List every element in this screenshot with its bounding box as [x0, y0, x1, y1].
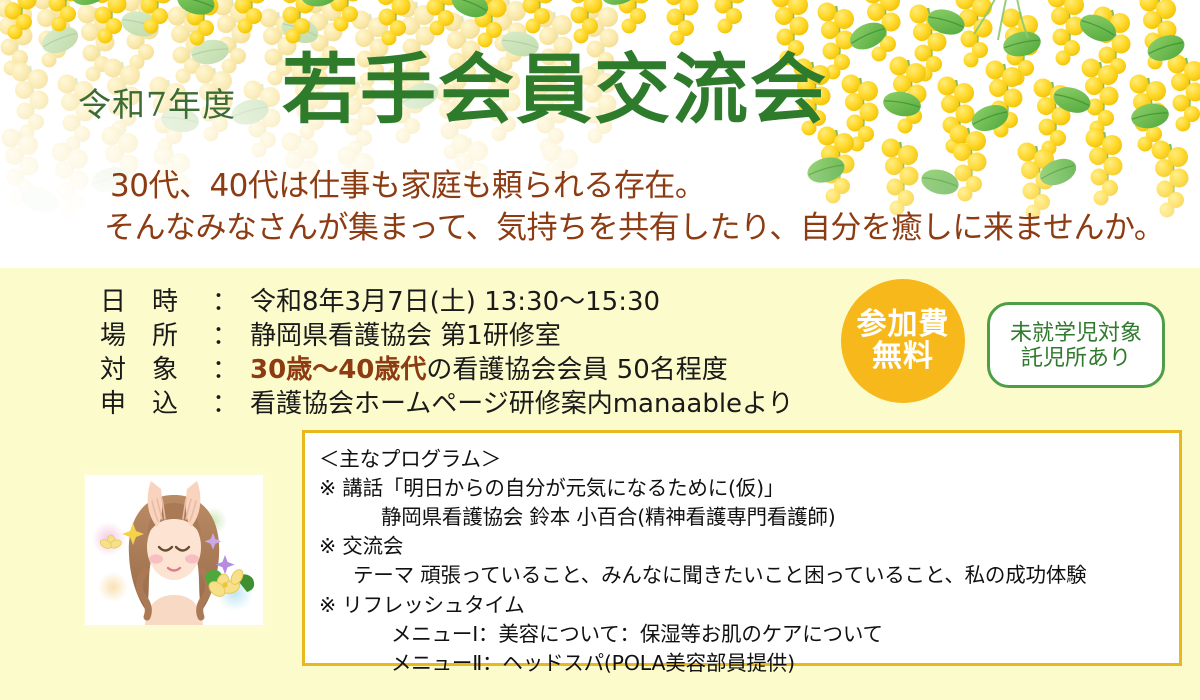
detail-row-datetime: 日 時 ： 令和8年3月7日(土) 13:30～15:30: [100, 281, 794, 315]
program-heading: ＜主なプログラム＞: [319, 445, 1179, 474]
subtitle-line-1: 30代、40代は仕事も家庭も頼られる存在。: [110, 160, 705, 205]
program-line-lecture: ※ 講話「明日からの自分が元気になるために(仮)」: [319, 474, 1179, 503]
detail-colon: ：: [212, 383, 238, 420]
detail-label-target: 対 象: [100, 349, 212, 386]
detail-label-venue: 場 所: [100, 315, 212, 352]
subtitle-line-2: そんなみなさんが集まって、気持ちを共有したり、自分を癒しに来ませんか。: [104, 202, 1164, 247]
detail-value-target-rest: の看護協会会員 50名程度: [426, 349, 727, 386]
program-line-menu-2: メニューⅡ：ヘッドスパ(POLA美容部員提供): [319, 649, 1179, 678]
detail-colon: ：: [212, 349, 238, 386]
program-line-theme: テーマ 頑張っていること、みんなに聞きたいこと困っていること、私の成功体験: [319, 561, 1179, 590]
detail-colon: ：: [212, 281, 238, 318]
detail-row-target: 対 象 ： 30歳～40歳代 の看護協会会員 50名程度: [100, 349, 794, 383]
detail-value-target-highlight: 30歳～40歳代: [250, 349, 426, 386]
program-line-refresh: ※ リフレッシュタイム: [319, 591, 1179, 620]
childcare-badge-line-2: 託児所あり: [1021, 345, 1131, 370]
detail-value-application: 看護協会ホームページ研修案内manaableより: [250, 383, 794, 420]
detail-colon: ：: [212, 315, 238, 352]
detail-label-datetime: 日 時: [100, 281, 212, 318]
program-line-speaker: 静岡県看護協会 鈴本 小百合(精神看護専門看護師): [319, 503, 1179, 532]
head-spa-illustration-icon: [85, 475, 263, 625]
head-spa-woman-illustration: [83, 470, 265, 630]
childcare-badge-line-1: 未就学児対象: [1010, 320, 1142, 345]
era-label: 令和7年度: [78, 78, 236, 126]
event-details-list: 日 時 ： 令和8年3月7日(土) 13:30～15:30 場 所 ： 静岡県看…: [100, 281, 794, 417]
program-box: ＜主なプログラム＞ ※ 講話「明日からの自分が元気になるために(仮)」 静岡県看…: [302, 430, 1182, 666]
fee-badge-line-1: 参加費: [857, 309, 950, 341]
detail-value-datetime: 令和8年3月7日(土) 13:30～15:30: [250, 281, 660, 318]
program-line-menu-1: メニューⅠ：美容について：保湿等お肌のケアについて: [319, 620, 1179, 649]
fee-badge-line-2: 無料: [872, 341, 934, 373]
detail-row-venue: 場 所 ： 静岡県看護協会 第1研修室: [100, 315, 794, 349]
detail-label-application: 申 込: [100, 383, 212, 420]
childcare-badge: 未就学児対象 託児所あり: [987, 302, 1165, 388]
fee-badge: 参加費 無料: [841, 279, 965, 403]
page-title: 若手会員交流会: [282, 52, 828, 128]
detail-row-application: 申 込 ： 看護協会ホームページ研修案内manaableより: [100, 383, 794, 417]
program-line-exchange: ※ 交流会: [319, 532, 1179, 561]
hero-banner: 令和7年度 若手会員交流会 30代、40代は仕事も家庭も頼られる存在。 そんなみ…: [0, 0, 1200, 268]
detail-value-venue: 静岡県看護協会 第1研修室: [250, 315, 561, 352]
event-poster: 令和7年度 若手会員交流会 30代、40代は仕事も家庭も頼られる存在。 そんなみ…: [0, 0, 1200, 700]
